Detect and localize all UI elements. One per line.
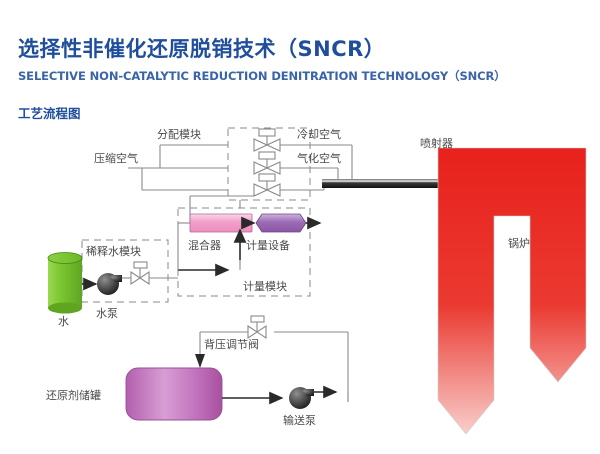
reductant-storage-tank (126, 368, 222, 420)
label-boiler: 锅炉 (508, 235, 530, 251)
label-mixer: 混合器 (188, 237, 221, 253)
valve-atomizing-air[interactable] (254, 174, 280, 196)
label-dilution-water-module: 稀释水模块 (86, 243, 141, 259)
slide-page: 选择性非催化还原脱销技术（SNCR） SELECTIVE NON-CATALYT… (0, 0, 600, 450)
boiler-shape (438, 148, 586, 434)
valve-cooling-air[interactable] (254, 129, 280, 151)
label-metering-equipment: 计量设备 (246, 237, 290, 253)
process-flow-diagram: 分配模块 压缩空气 冷却空气 气化空气 喷射器 锅炉 混合器 计量设备 计量模块… (0, 110, 600, 450)
label-compressed-air: 压缩空气 (94, 150, 138, 166)
label-injector: 喷射器 (420, 135, 453, 151)
metering-equipment-vessel (256, 214, 306, 232)
valve-dilution-water[interactable] (131, 262, 149, 284)
label-vaporizing-air: 气化空气 (297, 150, 341, 166)
label-back-pressure-valve: 背压调节阀 (204, 336, 259, 352)
label-cooling-air: 冷却空气 (297, 126, 341, 142)
label-metering-module: 计量模块 (243, 278, 287, 294)
water-tank (48, 253, 82, 314)
label-water-pump: 水泵 (96, 305, 118, 321)
label-transfer-pump: 输送泵 (283, 412, 316, 428)
mixer-vessel (190, 214, 252, 232)
valve-vaporizing-air[interactable] (254, 152, 280, 174)
valve-back-pressure[interactable] (248, 316, 266, 338)
label-distribution-module: 分配模块 (157, 126, 201, 142)
label-reductant-tank: 还原剂储罐 (46, 387, 101, 403)
page-title: 选择性非催化还原脱销技术（SNCR） (18, 33, 385, 63)
page-subtitle: SELECTIVE NON-CATALYTIC REDUCTION DENITR… (18, 68, 506, 84)
label-water: 水 (58, 313, 69, 329)
compressed-air-piping (128, 145, 228, 190)
back-pressure-return-arrow (195, 354, 205, 368)
